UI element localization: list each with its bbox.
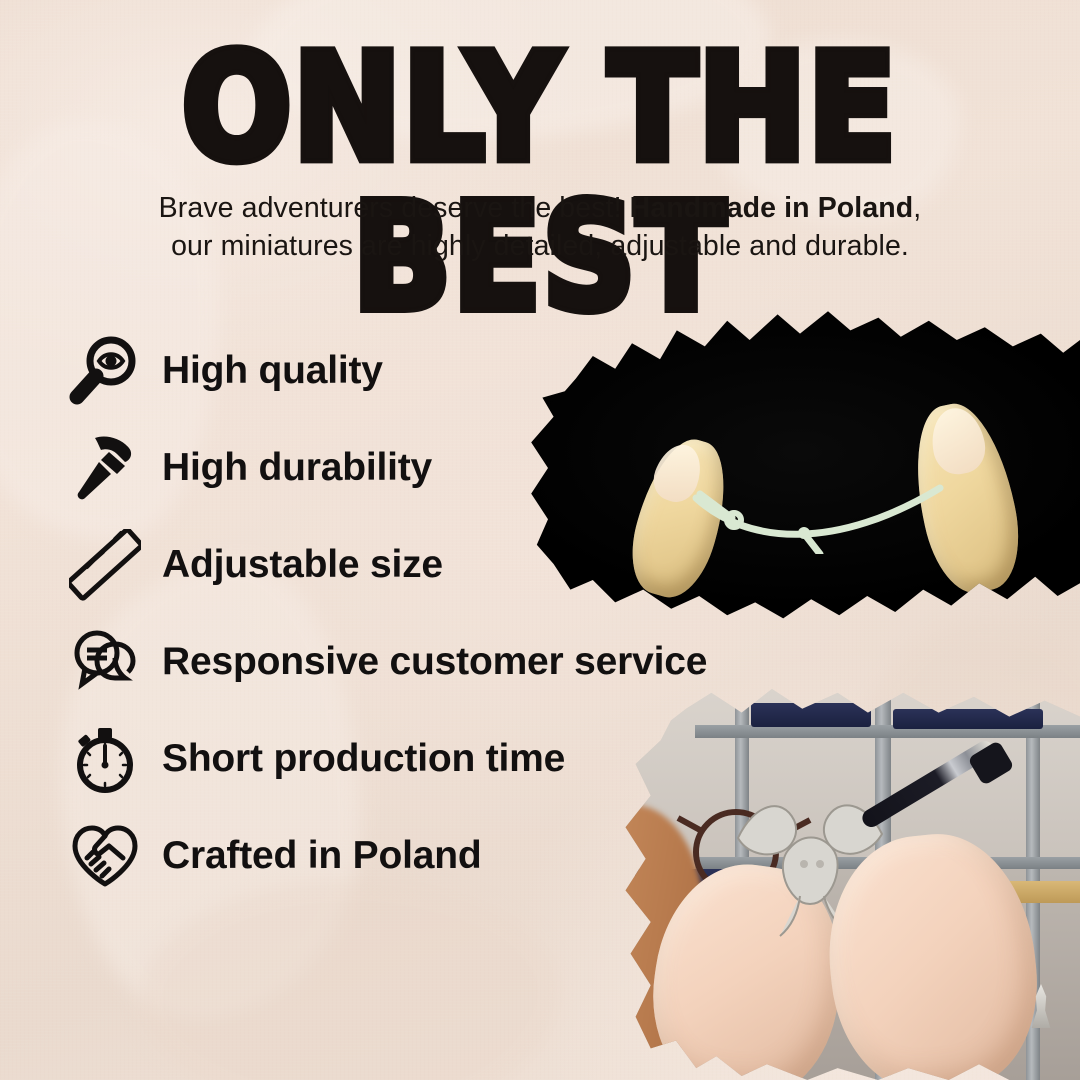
hammer-icon bbox=[66, 429, 144, 507]
feature-label: Responsive customer service bbox=[162, 640, 707, 684]
feature-label: High quality bbox=[162, 349, 383, 393]
feature-list: High quality High durability bbox=[66, 322, 796, 904]
subtitle: Brave adventurers deserve the best! Hand… bbox=[60, 190, 1020, 266]
stopwatch-icon bbox=[66, 720, 144, 798]
feature-row: Short production time bbox=[66, 710, 796, 807]
subtitle-bold: Handmade in Poland bbox=[630, 192, 914, 224]
subtitle-line2: our miniatures are highly detailed, adju… bbox=[171, 230, 909, 262]
speech-bubbles-icon bbox=[66, 623, 144, 701]
subtitle-tail: , bbox=[913, 192, 921, 224]
page-title: ONLY THE BEST bbox=[0, 34, 1080, 332]
heart-handshake-icon bbox=[66, 817, 144, 895]
feature-label: Crafted in Poland bbox=[162, 834, 481, 878]
poster-canvas: ONLY THE BEST Brave adventurers deserve … bbox=[0, 0, 1080, 1080]
feature-row: Responsive customer service bbox=[66, 613, 796, 710]
feature-row: High quality bbox=[66, 322, 796, 419]
subtitle-lead: Brave adventurers deserve the best! bbox=[159, 192, 630, 224]
feature-label: Short production time bbox=[162, 737, 565, 781]
feature-label: Adjustable size bbox=[162, 543, 443, 587]
feature-row: High durability bbox=[66, 419, 796, 516]
magnifier-eye-icon bbox=[66, 332, 144, 410]
feature-row: Crafted in Poland bbox=[66, 807, 796, 904]
feature-row: Adjustable size bbox=[66, 516, 796, 613]
feature-label: High durability bbox=[162, 446, 432, 490]
ruler-icon bbox=[66, 526, 144, 604]
